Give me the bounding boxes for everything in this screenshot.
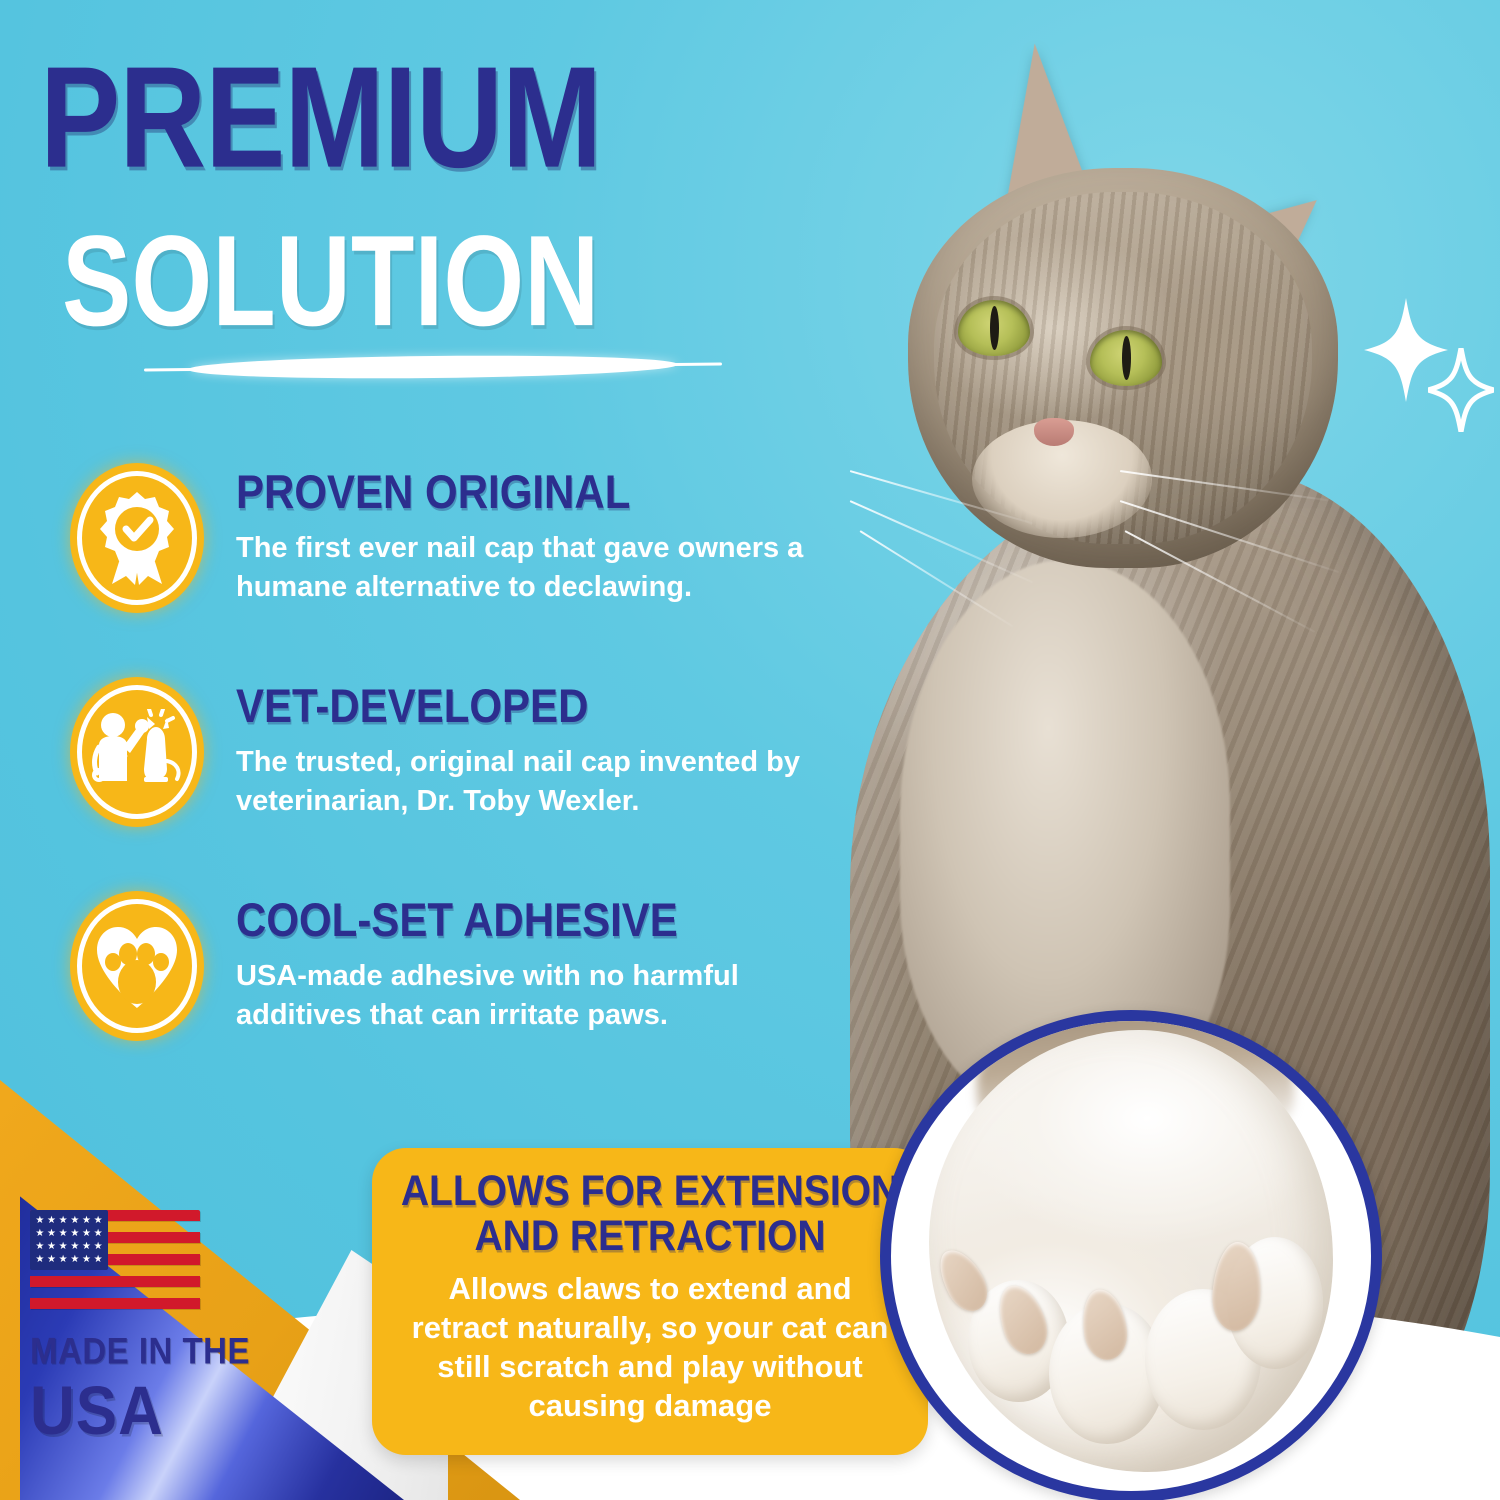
headline-block: PREMIUM SOLUTION — [40, 52, 840, 319]
feature-icon-wrapper — [58, 455, 216, 625]
flag-canton: ★★★★★★ ★★★★★★ ★★★★★★ ★★★★★★ — [30, 1210, 108, 1270]
feature-text-block: COOL-SET ADHESIVE USA-made adhesive with… — [236, 883, 858, 1035]
feature-icon-wrapper — [58, 669, 216, 839]
feature-text-block: VET-DEVELOPED The trusted, original nail… — [236, 669, 858, 821]
feature-item-cool-set-adhesive: COOL-SET ADHESIVE USA-made adhesive with… — [58, 883, 858, 1053]
feature-list: PROVEN ORIGINAL The first ever nail cap … — [58, 455, 858, 1097]
made-in-the-label: MADE IN THE — [30, 1330, 250, 1373]
sparkle-star-outline-icon — [1428, 348, 1494, 437]
feature-item-vet-developed: VET-DEVELOPED The trusted, original nail… — [58, 669, 858, 839]
feature-description: The first ever nail cap that gave owners… — [236, 529, 836, 607]
callout-title: ALLOWS FOR EXTENSION AND RETRACTION — [396, 1170, 904, 1259]
feature-description: USA-made adhesive with no harmful additi… — [236, 957, 836, 1035]
product-infographic: PREMIUM SOLUTION PROVEN ORIGINAL — [0, 0, 1500, 1500]
cat-paw-inset-photo — [880, 1010, 1382, 1500]
vet-high-five-cat-icon — [70, 677, 204, 827]
callout-box: ALLOWS FOR EXTENSION AND RETRACTION Allo… — [372, 1148, 928, 1455]
feature-title: PROVEN ORIGINAL — [236, 469, 858, 516]
usa-flag-icon: ★★★★★★ ★★★★★★ ★★★★★★ ★★★★★★ — [30, 1210, 200, 1320]
award-ribbon-icon — [70, 463, 204, 613]
usa-label: USA — [30, 1378, 250, 1446]
flag-stars: ★★★★★★ ★★★★★★ ★★★★★★ ★★★★★★ — [34, 1214, 104, 1266]
made-in-usa-badge: ★★★★★★ ★★★★★★ ★★★★★★ ★★★★★★ MADE IN THE … — [30, 1210, 250, 1440]
callout-body: Allows claws to extend and retract natur… — [396, 1269, 904, 1425]
headline-solution: SOLUTION — [62, 221, 840, 344]
cat-eye-right — [1090, 330, 1162, 386]
feature-title: COOL-SET ADHESIVE — [236, 897, 858, 944]
feature-description: The trusted, original nail cap invented … — [236, 743, 836, 821]
feature-title: VET-DEVELOPED — [236, 683, 858, 730]
feature-icon-wrapper — [58, 883, 216, 1053]
heart-paw-icon — [70, 891, 204, 1041]
headline-premium: PREMIUM — [40, 52, 856, 184]
feature-item-proven-original: PROVEN ORIGINAL The first ever nail cap … — [58, 455, 858, 625]
cat-eye-left — [958, 300, 1030, 356]
feature-text-block: PROVEN ORIGINAL The first ever nail cap … — [236, 455, 858, 607]
